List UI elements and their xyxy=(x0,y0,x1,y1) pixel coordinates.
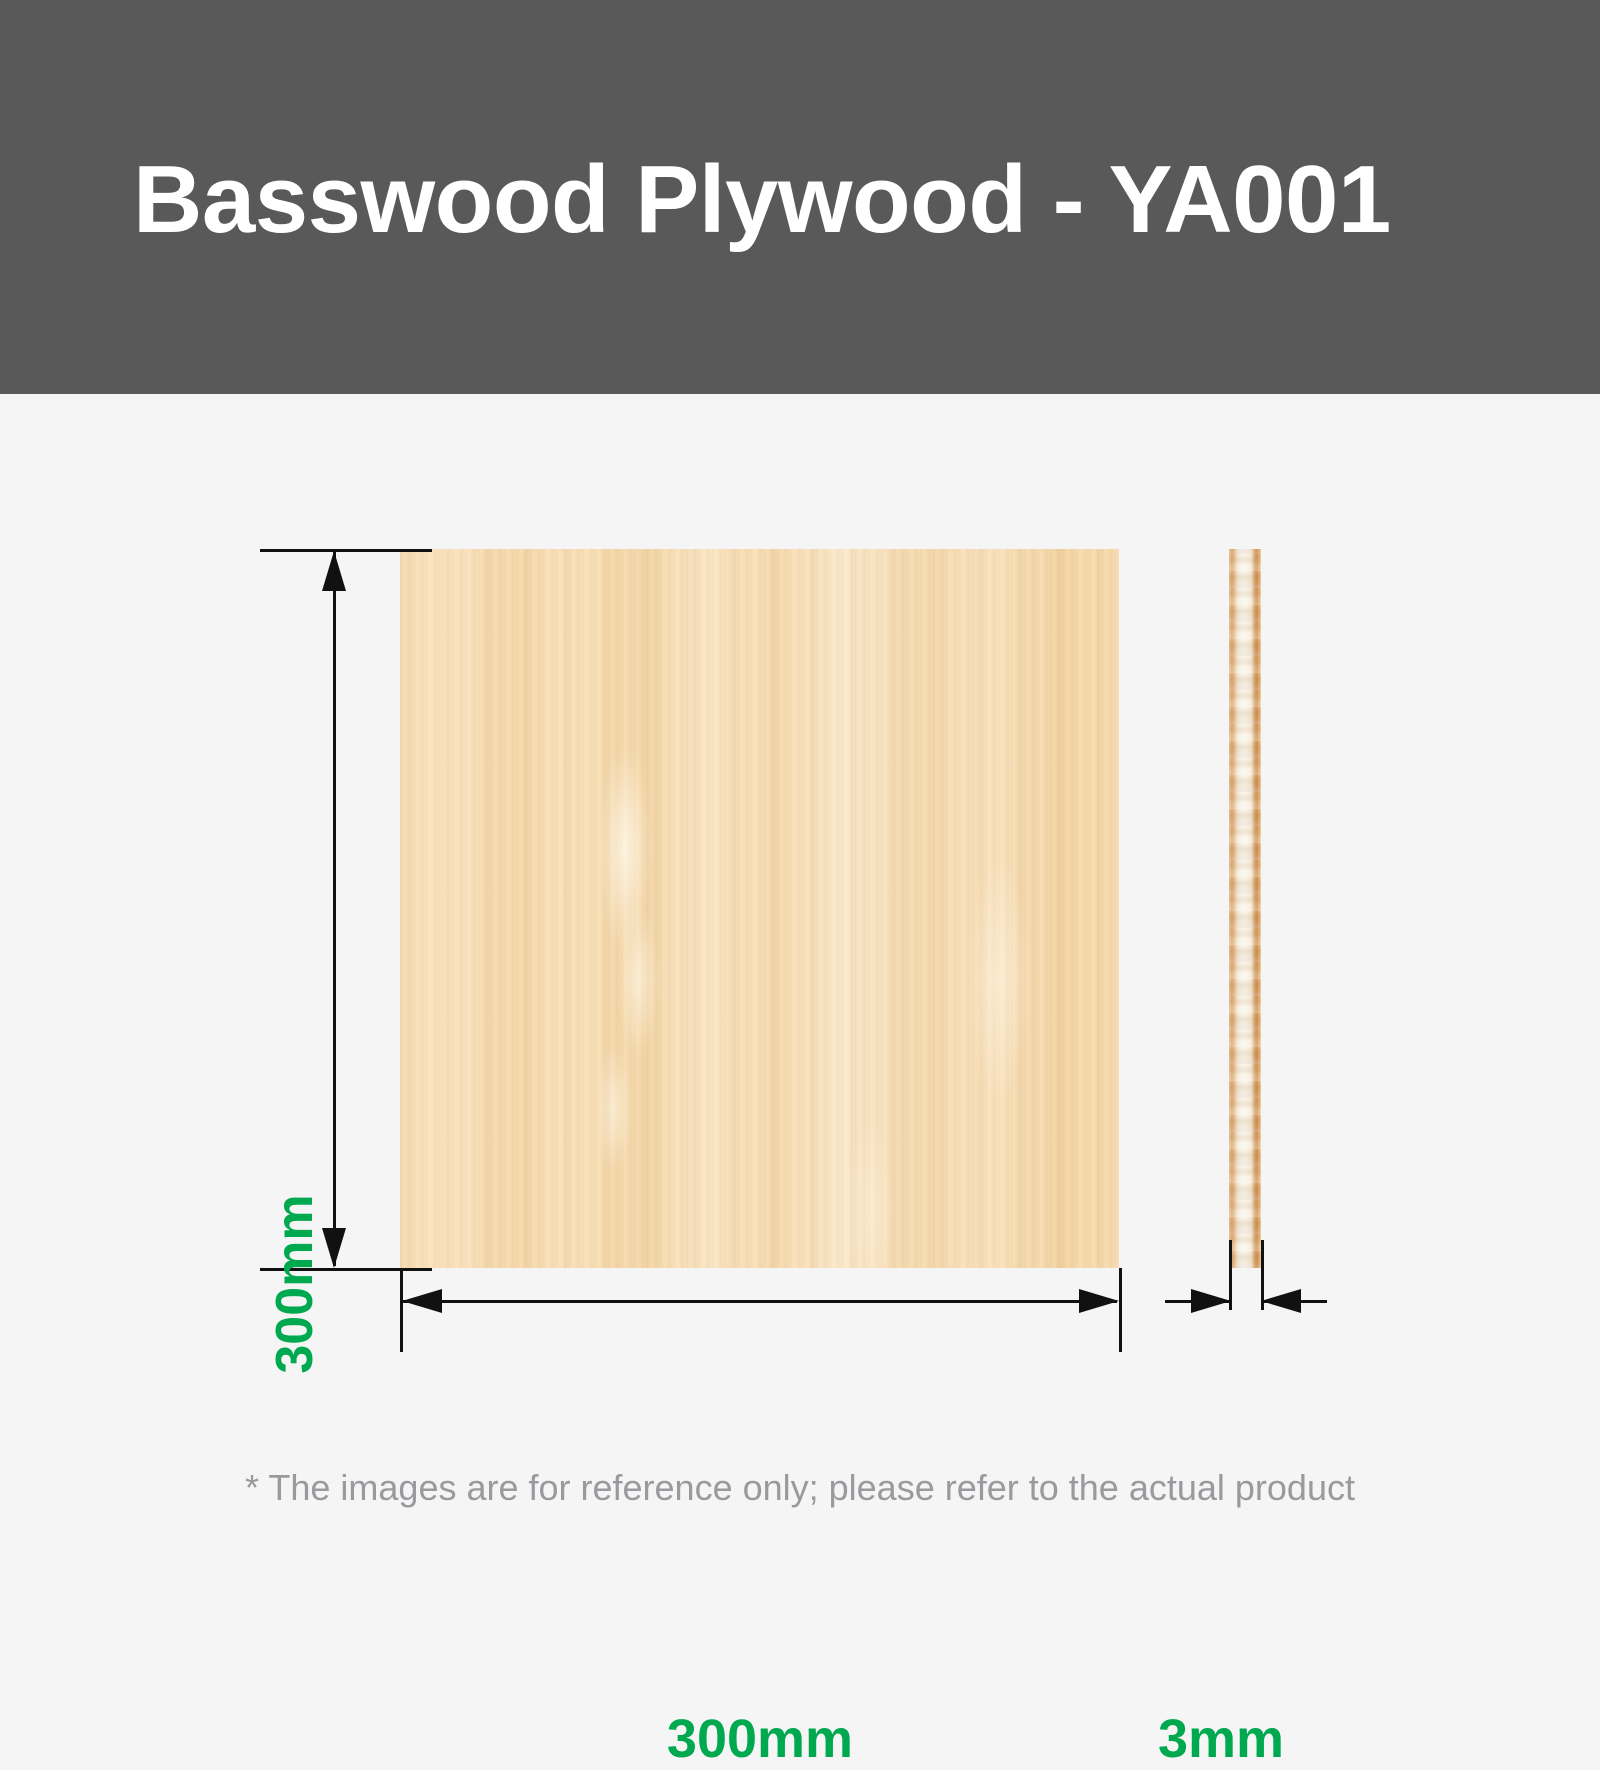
thickness-arrow-left-icon xyxy=(1261,1289,1301,1313)
product-drawing-stage: 300mm 300mm 3mm xyxy=(0,394,1600,1600)
width-extension-line-right xyxy=(1119,1268,1122,1352)
height-arrow-up-icon xyxy=(322,551,346,591)
reference-disclaimer: * The images are for reference only; ple… xyxy=(0,1467,1600,1509)
basswood-plywood-panel xyxy=(400,549,1119,1268)
thickness-arrow-right-icon xyxy=(1191,1289,1231,1313)
page-title: Basswood Plywood - YA001 xyxy=(133,145,1391,255)
width-arrow-left-icon xyxy=(402,1289,442,1313)
height-arrow-down-icon xyxy=(322,1228,346,1268)
width-dimension-label: 300mm xyxy=(667,1708,853,1770)
height-dimension-line xyxy=(333,552,336,1266)
width-arrow-right-icon xyxy=(1079,1289,1119,1313)
thickness-dimension-label: 3mm xyxy=(1158,1708,1284,1770)
header-bar: Basswood Plywood - YA001 xyxy=(0,0,1600,394)
width-dimension-line xyxy=(403,1300,1117,1303)
height-dimension-label: 300mm xyxy=(265,1194,325,1373)
height-extension-line-top xyxy=(260,549,432,552)
basswood-plywood-edge-view xyxy=(1229,549,1261,1268)
